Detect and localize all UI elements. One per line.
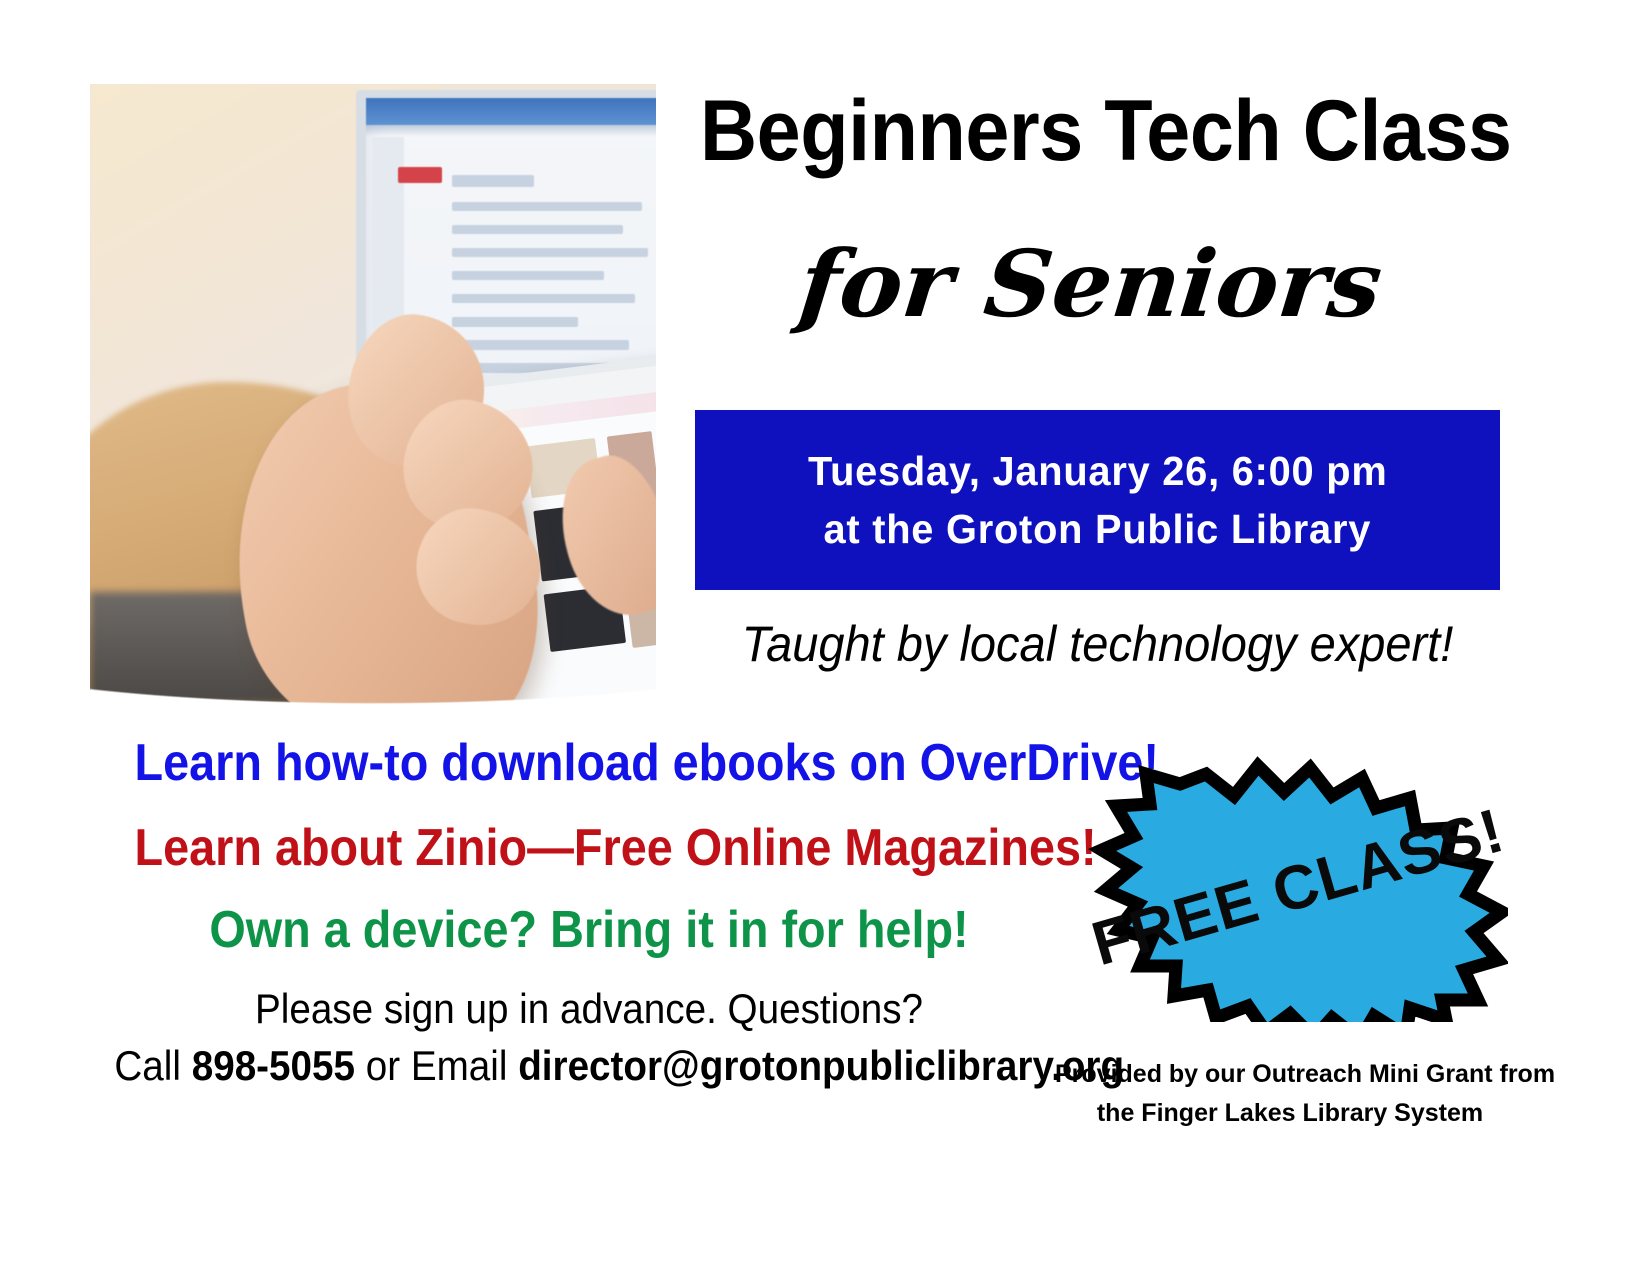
- grant-credit: Provided by our Outreach Mini Grant from…: [1055, 1055, 1525, 1133]
- contact-middle: or Email: [355, 1042, 518, 1089]
- grant-credit-line-2: the Finger Lakes Library System: [1055, 1094, 1525, 1133]
- grant-credit-line-1: Provided by our Outreach Mini Grant from: [1055, 1055, 1525, 1094]
- flyer-page: Beginners Tech Class for Seniors Tuesday…: [0, 0, 1650, 1275]
- photo-laptop-row: [452, 271, 604, 280]
- photo-laptop-row: [452, 294, 636, 303]
- bullet-bring-device: Own a device? Bring it in for help!: [135, 900, 1044, 960]
- event-tagline: Taught by local technology expert!: [719, 615, 1476, 673]
- signup-note: Please sign up in advance. Questions?: [124, 985, 1053, 1033]
- free-class-badge: FREE CLASS!: [1088, 752, 1508, 1022]
- photo-laptop-row: [452, 317, 579, 326]
- starburst-icon: [1088, 752, 1508, 1022]
- event-datetime: Tuesday, January 26, 6:00 pm: [808, 442, 1387, 500]
- bullet-zinio: Learn about Zinio—Free Online Magazines!: [135, 818, 1044, 878]
- contact-call-prefix: Call: [114, 1042, 191, 1089]
- photo-laptop-row: [452, 340, 629, 349]
- photo-laptop-row: [452, 175, 534, 187]
- page-title: Beginners Tech Class: [700, 88, 1491, 174]
- photo-laptop-browser-bar: [366, 98, 656, 125]
- page-subtitle: for Seniors: [795, 238, 1580, 330]
- event-banner: Tuesday, January 26, 6:00 pm at the Grot…: [695, 410, 1500, 590]
- photo-laptop-accent: [398, 167, 442, 182]
- contact-email: director@grotonpubliclibrary.org: [518, 1042, 1124, 1089]
- photo-image: [90, 84, 656, 704]
- contact-phone: 898-5055: [192, 1042, 355, 1089]
- event-location: at the Groton Public Library: [824, 500, 1372, 558]
- photo-laptop-row: [452, 225, 623, 234]
- bullet-overdrive: Learn how-to download ebooks on OverDriv…: [135, 733, 1044, 793]
- hero-photo: [78, 72, 668, 722]
- photo-scene: [90, 84, 656, 704]
- photo-laptop-row: [452, 248, 649, 257]
- contact-line: Call 898-5055 or Email director@grotonpu…: [114, 1042, 1043, 1090]
- photo-laptop-row: [452, 202, 642, 211]
